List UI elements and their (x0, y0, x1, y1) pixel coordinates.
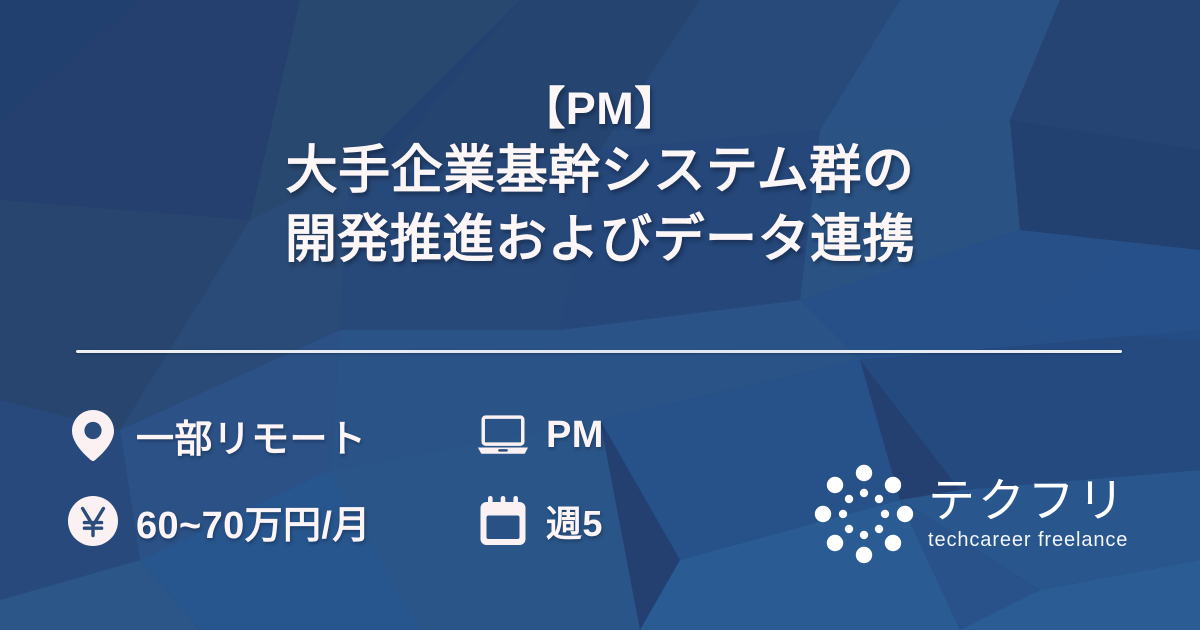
brand-logo: テクフリ techcareer freelance (812, 462, 1128, 566)
meta-item-salary: 60~70万円/月 (66, 494, 476, 549)
job-title-line-2: 開発推進およびデータ連携 (0, 206, 1200, 275)
meta-row: 60~70万円/月 週5 (66, 478, 766, 564)
dot-cluster-icon (812, 462, 916, 566)
calendar-icon (476, 494, 530, 548)
meta-value-work-style: 一部リモート (136, 408, 366, 463)
meta-row: 一部リモート PM (66, 392, 766, 478)
meta-item-workdays: 週5 (476, 494, 756, 548)
job-title-line-1: 大手企業基幹システム群の (0, 137, 1200, 206)
brand-logo-text: テクフリ techcareer freelance (928, 476, 1128, 552)
location-pin-icon (66, 408, 120, 462)
meta-value-role: PM (546, 414, 604, 457)
brand-wordmark: テクフリ (928, 476, 1128, 525)
meta-value-salary: 60~70万円/月 (136, 494, 371, 549)
yen-circle-icon (66, 494, 120, 548)
job-title-block: 【PM】 大手企業基幹システム群の 開発推進およびデータ連携 (0, 82, 1200, 274)
laptop-icon (476, 408, 530, 462)
divider (76, 350, 1122, 353)
job-category-label: 【PM】 (0, 82, 1200, 137)
meta-item-role: PM (476, 408, 756, 462)
meta-value-workdays: 週5 (546, 495, 603, 547)
brand-tagline: techcareer freelance (928, 529, 1128, 552)
meta-item-work-style: 一部リモート (66, 408, 476, 463)
job-meta-list: 一部リモート PM (66, 392, 766, 564)
job-summary-card: 【PM】 大手企業基幹システム群の 開発推進およびデータ連携 一部リモート (0, 0, 1200, 630)
